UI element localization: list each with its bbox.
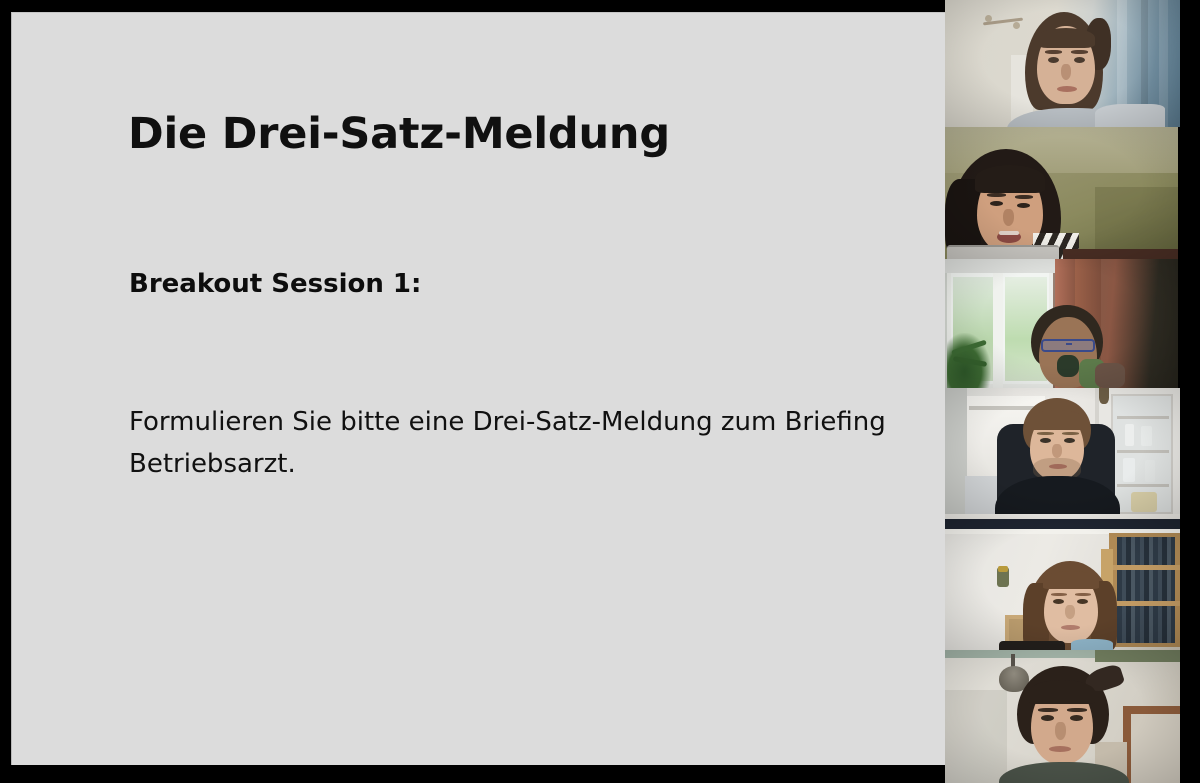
shared-screen-region[interactable]: Die Drei-Satz-Meldung Breakout Session 1… xyxy=(0,0,945,783)
participant-tile-5[interactable] xyxy=(945,519,1180,650)
participant-tile-1[interactable] xyxy=(945,0,1180,127)
conference-window: Die Drei-Satz-Meldung Breakout Session 1… xyxy=(0,0,1200,783)
participant-tile-6[interactable] xyxy=(945,650,1180,783)
participant-video-2 xyxy=(945,127,1178,259)
participant-tile-3[interactable] xyxy=(945,259,1178,388)
participant-video-6 xyxy=(945,650,1180,783)
slide-body-line-2: Betriebsarzt. xyxy=(129,443,945,485)
participant-tile-2[interactable] xyxy=(945,127,1178,259)
participant-filmstrip[interactable] xyxy=(945,0,1200,783)
participant-tile-4[interactable] xyxy=(945,388,1180,519)
slide-title: Die Drei-Satz-Meldung xyxy=(128,109,670,159)
slide-body: Formulieren Sie bitte eine Drei-Satz-Mel… xyxy=(129,401,945,485)
presentation-slide[interactable]: Die Drei-Satz-Meldung Breakout Session 1… xyxy=(11,12,945,765)
participant-video-4 xyxy=(945,388,1180,519)
participant-video-5 xyxy=(945,519,1180,650)
slide-subtitle: Breakout Session 1: xyxy=(129,269,421,299)
participant-video-3 xyxy=(945,259,1178,388)
slide-body-line-1: Formulieren Sie bitte eine Drei-Satz-Mel… xyxy=(129,401,945,443)
participant-video-1 xyxy=(945,0,1180,127)
